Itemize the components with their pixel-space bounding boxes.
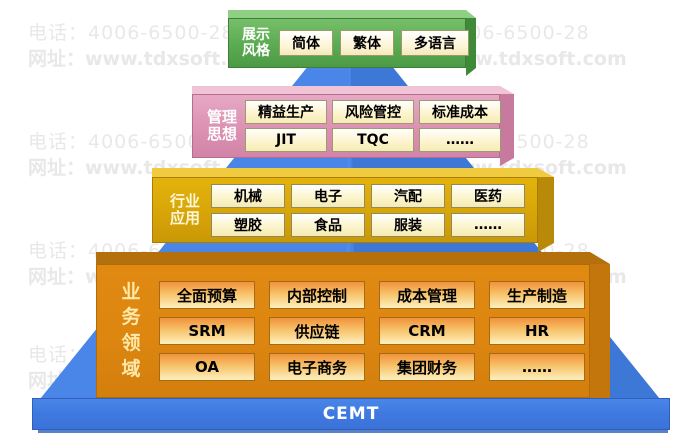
tier-label-line: 风格 (233, 43, 279, 59)
cell-more-management[interactable]: …… (419, 128, 501, 152)
tier-cell-row: SRM 供应链 CRM HR (159, 317, 585, 345)
tier-cell-row: 简体 繁体 多语言 (279, 30, 469, 56)
cell-apparel[interactable]: 服装 (371, 213, 445, 237)
cell-internal-control[interactable]: 内部控制 (269, 281, 365, 309)
tier-label-line: 管理 (199, 109, 245, 126)
tier-cells: 机械 电子 汽配 医药 塑胶 食品 服装 …… (211, 184, 531, 237)
tier-cell-row: 机械 电子 汽配 医药 (211, 184, 531, 208)
tier-side-face (538, 177, 554, 252)
tier-label-line: 思想 (199, 126, 245, 143)
tier-label-line: 应用 (159, 210, 211, 227)
cell-multilingual[interactable]: 多语言 (401, 30, 469, 56)
cell-food[interactable]: 食品 (291, 213, 365, 237)
tier-side-face (500, 94, 514, 166)
tier-cell-row: JIT TQC …… (245, 128, 501, 152)
cell-oa[interactable]: OA (159, 353, 255, 381)
cell-more-business[interactable]: …… (489, 353, 585, 381)
cell-supply-chain[interactable]: 供应链 (269, 317, 365, 345)
tier-top-face (152, 168, 554, 177)
tier-label-display-style: 展示 风格 (233, 27, 279, 59)
tier-label-line: 务 (103, 305, 159, 331)
cell-srm[interactable]: SRM (159, 317, 255, 345)
tier-cell-row: 精益生产 风险管控 标准成本 (245, 100, 501, 124)
cell-simplified[interactable]: 简体 (279, 30, 333, 56)
tier-front-face: 管理 思想 精益生产 风险管控 标准成本 JIT TQC …… (192, 94, 500, 158)
tier-label-industry: 行业 应用 (159, 193, 211, 228)
tier-industry-application[interactable]: 行业 应用 机械 电子 汽配 医药 塑胶 食品 服装 …… (152, 168, 554, 244)
tier-cells: 精益生产 风险管控 标准成本 JIT TQC …… (245, 100, 501, 152)
cell-production-manufacturing[interactable]: 生产制造 (489, 281, 585, 309)
base-bar-label: CEMT (323, 404, 380, 424)
tier-label-line: 业 (103, 280, 159, 306)
cell-electronics[interactable]: 电子 (291, 184, 365, 208)
tier-business-domain[interactable]: 业 务 领 域 全面预算 内部控制 成本管理 生产制造 SRM 供应链 CRM … (96, 252, 610, 398)
tier-label-line: 领 (103, 331, 159, 357)
tier-cell-row: OA 电子商务 集团财务 …… (159, 353, 585, 381)
tier-cells: 简体 繁体 多语言 (279, 19, 469, 67)
cell-more-industry[interactable]: …… (451, 213, 525, 237)
cell-jit[interactable]: JIT (245, 128, 327, 152)
tier-top-face (96, 252, 610, 264)
tier-cell-row: 全面预算 内部控制 成本管理 生产制造 (159, 281, 585, 309)
cell-hr[interactable]: HR (489, 317, 585, 345)
tier-label-business: 业 务 领 域 (103, 280, 159, 383)
cell-crm[interactable]: CRM (379, 317, 475, 345)
tier-front-face: 业 务 领 域 全面预算 内部控制 成本管理 生产制造 SRM 供应链 CRM … (96, 264, 590, 398)
tier-label-line: 展示 (233, 27, 279, 43)
tier-label-line: 行业 (159, 193, 211, 210)
tier-top-face (228, 10, 476, 18)
cell-comprehensive-budget[interactable]: 全面预算 (159, 281, 255, 309)
tier-label-management: 管理 思想 (199, 109, 245, 144)
cell-machinery[interactable]: 机械 (211, 184, 285, 208)
pyramid-diagram: 电话：4006-6500-28 电话：4006-6500-28 电话：4006-… (0, 0, 700, 439)
tier-display-style[interactable]: 展示 风格 简体 繁体 多语言 (228, 10, 476, 68)
tier-cell-row: 塑胶 食品 服装 …… (211, 213, 531, 237)
tier-front-face: 展示 风格 简体 繁体 多语言 (228, 18, 466, 68)
tier-side-face (590, 264, 610, 410)
cell-tqc[interactable]: TQC (332, 128, 414, 152)
cell-ecommerce[interactable]: 电子商务 (269, 353, 365, 381)
cell-group-finance[interactable]: 集团财务 (379, 353, 475, 381)
base-bar-cemt[interactable]: CEMT (32, 398, 670, 430)
cell-auto-parts[interactable]: 汽配 (371, 184, 445, 208)
tier-top-face (192, 86, 514, 94)
cell-plastics[interactable]: 塑胶 (211, 213, 285, 237)
tier-cells: 全面预算 内部控制 成本管理 生产制造 SRM 供应链 CRM HR OA 电子… (159, 281, 585, 381)
tier-management-thinking[interactable]: 管理 思想 精益生产 风险管控 标准成本 JIT TQC …… (192, 86, 514, 158)
tier-front-face: 行业 应用 机械 电子 汽配 医药 塑胶 食品 服装 …… (152, 177, 538, 243)
cell-traditional[interactable]: 繁体 (340, 30, 394, 56)
cell-pharmaceutical[interactable]: 医药 (451, 184, 525, 208)
tier-label-line: 域 (103, 357, 159, 383)
cell-standard-cost[interactable]: 标准成本 (419, 100, 501, 124)
cell-cost-management[interactable]: 成本管理 (379, 281, 475, 309)
cell-lean-production[interactable]: 精益生产 (245, 100, 327, 124)
cell-risk-control[interactable]: 风险管控 (332, 100, 414, 124)
